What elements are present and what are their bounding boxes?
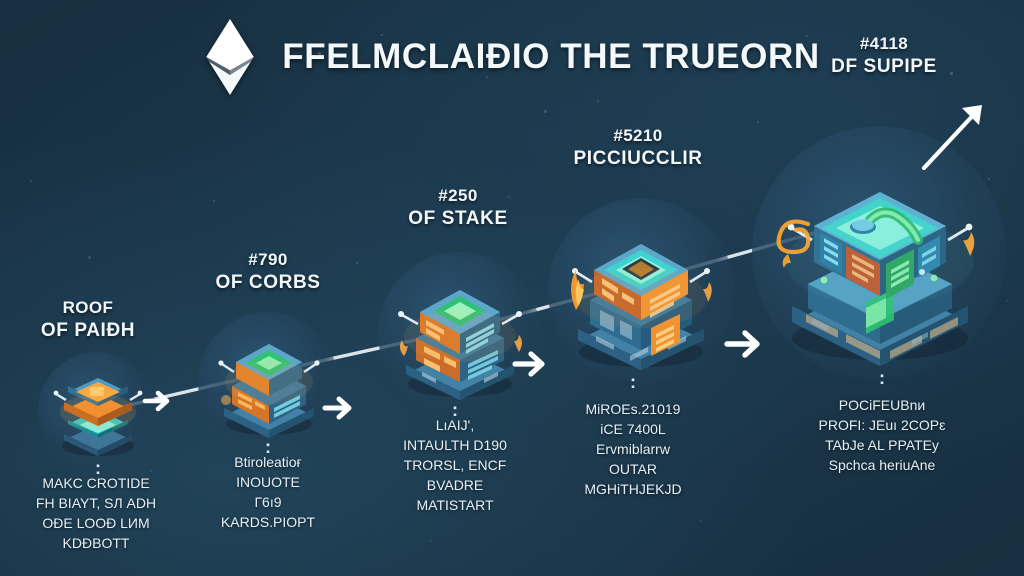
stage-5-body-line: PROFI: JEuı 2COPԑ <box>818 416 945 436</box>
stage-2-body-line: Г6ı9 <box>221 493 315 513</box>
stage-3-body-line: LıAIJ', <box>403 416 507 436</box>
stage-5-body-line: Spchca heriuAne <box>818 456 945 476</box>
stage-4-body-line: MGHiTHJEKJD <box>584 480 681 500</box>
stage-2-header: #790 OF CORBS <box>215 250 320 294</box>
stage-1-body-line: OÐE LOOÐ LИM <box>36 514 156 534</box>
stage-1-body-line: KDÐBOTT <box>36 534 156 554</box>
ethereum-diamond-icon <box>204 18 256 96</box>
stage-4-body-line: OUTAR <box>584 460 681 480</box>
stage-1-body-line: FH BIAYT, SЛ ADH <box>36 494 156 514</box>
stage-4-name: PICCIUCCLIR <box>573 148 702 170</box>
stage-4-header: #5210 PICCIUCCLIR <box>573 126 702 170</box>
stage-3-name: OF STAKE <box>408 208 507 230</box>
stage-5-body-line: POCiFEUBnи <box>818 396 945 416</box>
stage-5-body-line: TAbJe AL PPATEy <box>818 436 945 456</box>
stage-5-body: POCiFEUBnи PROFI: JEuı 2COPԑ TAbJe AL PP… <box>818 396 945 476</box>
stage-2-body-line: INOUOTE <box>221 473 315 493</box>
stage-4-body: MiROEs.21019 iCE 7400L Ervmiblarrw OUTAR… <box>584 400 681 499</box>
stage-3-body-line: TRORSL, ENCF <box>403 456 507 476</box>
stage-4-body-line: Ervmiblarrw <box>584 440 681 460</box>
stage-5-amount: #4118 <box>831 34 937 54</box>
stage-4-amount: #5210 <box>573 126 702 146</box>
stage-1-name: OF PAIÐH <box>41 320 135 342</box>
stage-2-body-line: Btiroleatioғ <box>221 453 315 473</box>
stage-5-dots: : <box>879 374 885 383</box>
stage-2-name: OF CORBS <box>215 272 320 294</box>
stage-1-dots: : <box>95 464 101 473</box>
stage-1-amount: ROOF <box>41 298 135 318</box>
page-title: FFELMCLAIÐIO THE TRUEORN <box>282 37 819 77</box>
stage-3-header: #250 OF STAKE <box>408 186 507 230</box>
stage-3-dots: : <box>452 406 458 415</box>
stage-3-body-line: BVADRE <box>403 476 507 496</box>
stage-4-body-line: iCE 7400L <box>584 420 681 440</box>
stage-5-name: DF SUPIPE <box>831 56 937 78</box>
stage-5-header: #4118 DF SUPIPE <box>831 34 937 78</box>
stage-4-dots: : <box>630 378 636 387</box>
arrow-stage-3-to-4 <box>512 347 556 381</box>
stage-3-amount: #250 <box>408 186 507 206</box>
stage-2-dots: : <box>265 443 271 452</box>
isometric-building-stage-3[interactable] <box>388 260 532 404</box>
infographic-canvas: FFELMCLAIÐIO THE TRUEORN ROOF OF PAIÐH <box>0 0 1024 576</box>
stage-3-body: LıAIJ', INTAULTH D190 TRORSL, ENCF BVADR… <box>403 416 507 515</box>
isometric-building-stage-2[interactable] <box>208 320 330 442</box>
arrow-stage-1-to-2 <box>142 386 178 416</box>
stage-3-body-line: INTAULTH D190 <box>403 436 507 456</box>
stage-2-amount: #790 <box>215 250 320 270</box>
arrow-growth-outbound <box>920 96 1000 176</box>
isometric-building-stage-1[interactable] <box>48 360 148 460</box>
stage-1-body-line: MAKC CROTIDE <box>36 474 156 494</box>
stage-3-body-line: MATISTART <box>403 496 507 516</box>
stage-2-body-line: KARDЅ.PIOPT <box>221 513 315 533</box>
stage-2-body: Btiroleatioғ INOUOTE Г6ı9 KARDЅ.PIOPT <box>221 453 315 533</box>
stage-1-header: ROOF OF PAIÐH <box>41 298 135 342</box>
stage-4-body-line: MiROEs.21019 <box>584 400 681 420</box>
arrow-stage-2-to-3 <box>322 392 362 424</box>
stage-1-body: MAKC CROTIDE FH BIAYT, SЛ ADH OÐE LOOÐ L… <box>36 474 156 554</box>
isometric-building-stage-4[interactable] <box>556 206 726 376</box>
